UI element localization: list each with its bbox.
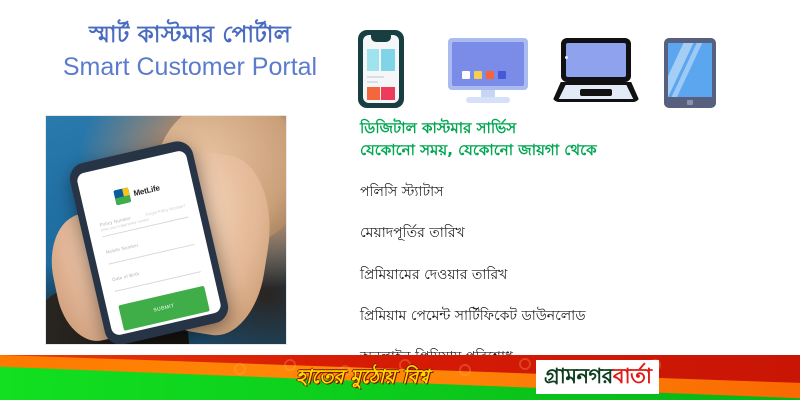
feature-item-maturity-date: মেয়াদপূর্তির তারিখ [360, 221, 465, 245]
metlife-mark-yellow [122, 187, 130, 196]
monitor-frame [448, 38, 528, 90]
promo-banner-page: স্মার্ট কাস্টমার পোর্টাল Smart Customer … [0, 0, 800, 400]
laptop-trackpad [580, 89, 612, 96]
tablet-glare-1 [668, 43, 694, 97]
feature-item-premium-due-date: প্রিমিয়ামের দেওয়ার তারিখ [360, 263, 507, 287]
device-icon-row [352, 16, 782, 108]
tablet-body [664, 38, 716, 108]
tablet-screen [668, 43, 712, 97]
bottom-banner: হাতের মুঠোয় বিশ্ব গ্রামনগর বার্তা [0, 355, 800, 400]
monitor-screen [452, 42, 524, 86]
laptop-webcam-dot [565, 56, 568, 59]
monitor-stand-base [466, 97, 510, 103]
gramnagarbarta-logo[interactable]: গ্রামনগর বার্তা [536, 360, 659, 394]
page-title: স্মার্ট কাস্টমার পোর্টাল Smart Customer … [40, 22, 340, 84]
page-title-english: Smart Customer Portal [40, 52, 340, 83]
feature-headline-line-1: ডিজিটাল কাস্টমার সার্ভিস [360, 118, 790, 140]
laptop-screen [566, 43, 626, 77]
feature-item-premium-certificate-download: প্রিমিয়াম পেমেন্ট সার্টিফিকেট ডাউনলোড [360, 304, 586, 328]
logo-text-barta: বার্তা [613, 360, 652, 395]
laptop-icon [552, 38, 640, 108]
monitor-tile-orange [486, 71, 494, 79]
feature-item-policy-status: পলিসি স্ট্যাটাস [360, 180, 443, 204]
smartphone-line-1 [367, 76, 384, 78]
banner-swirl-pattern [200, 355, 800, 385]
smartphone-tile-cyan-2 [381, 49, 395, 71]
submit-button[interactable]: SUBMIT [118, 286, 210, 331]
metlife-logo-mark [114, 187, 132, 205]
tablet-home-button [687, 100, 693, 105]
smartphone-screen [363, 35, 399, 103]
forgot-policy-link[interactable]: Forgot Policy Number? [145, 203, 186, 217]
page-title-bengali: স্মার্ট কাস্টমার পোর্টাল [40, 22, 340, 48]
metlife-logo-text: MetLife [133, 183, 161, 198]
smartphone-tile-red [381, 87, 395, 100]
logo-text-gramnagar: গ্রামনগর [544, 360, 613, 395]
feature-list: ডিজিটাল কাস্টমার সার্ভিস যেকোনো সময়, যে… [360, 118, 790, 162]
tablet-icon [664, 38, 716, 108]
monitor-tile-yellow [474, 71, 482, 79]
smartphone-notch [371, 35, 391, 42]
hero-photo: MetLife Policy Number Enter your 9 digit… [45, 115, 287, 345]
desktop-monitor-icon [448, 38, 528, 108]
smartphone-icon [358, 30, 404, 108]
monitor-tile-white [462, 71, 470, 79]
banner-tagline: হাতের মুঠোয় বিশ্ব [296, 363, 429, 395]
mobile-number-label: Mobile Number [105, 243, 138, 255]
date-of-birth-field[interactable]: Date of Birth [111, 256, 201, 292]
date-of-birth-label: Date of Birth [112, 271, 140, 282]
smartphone-tile-orange [367, 87, 380, 100]
smartphone-line-2 [367, 81, 378, 83]
monitor-tile-blue [498, 71, 506, 79]
feature-headline-line-2: যেকোনো সময়, যেকোনো জায়গা থেকে [360, 140, 790, 162]
smartphone-tile-cyan [367, 49, 379, 71]
